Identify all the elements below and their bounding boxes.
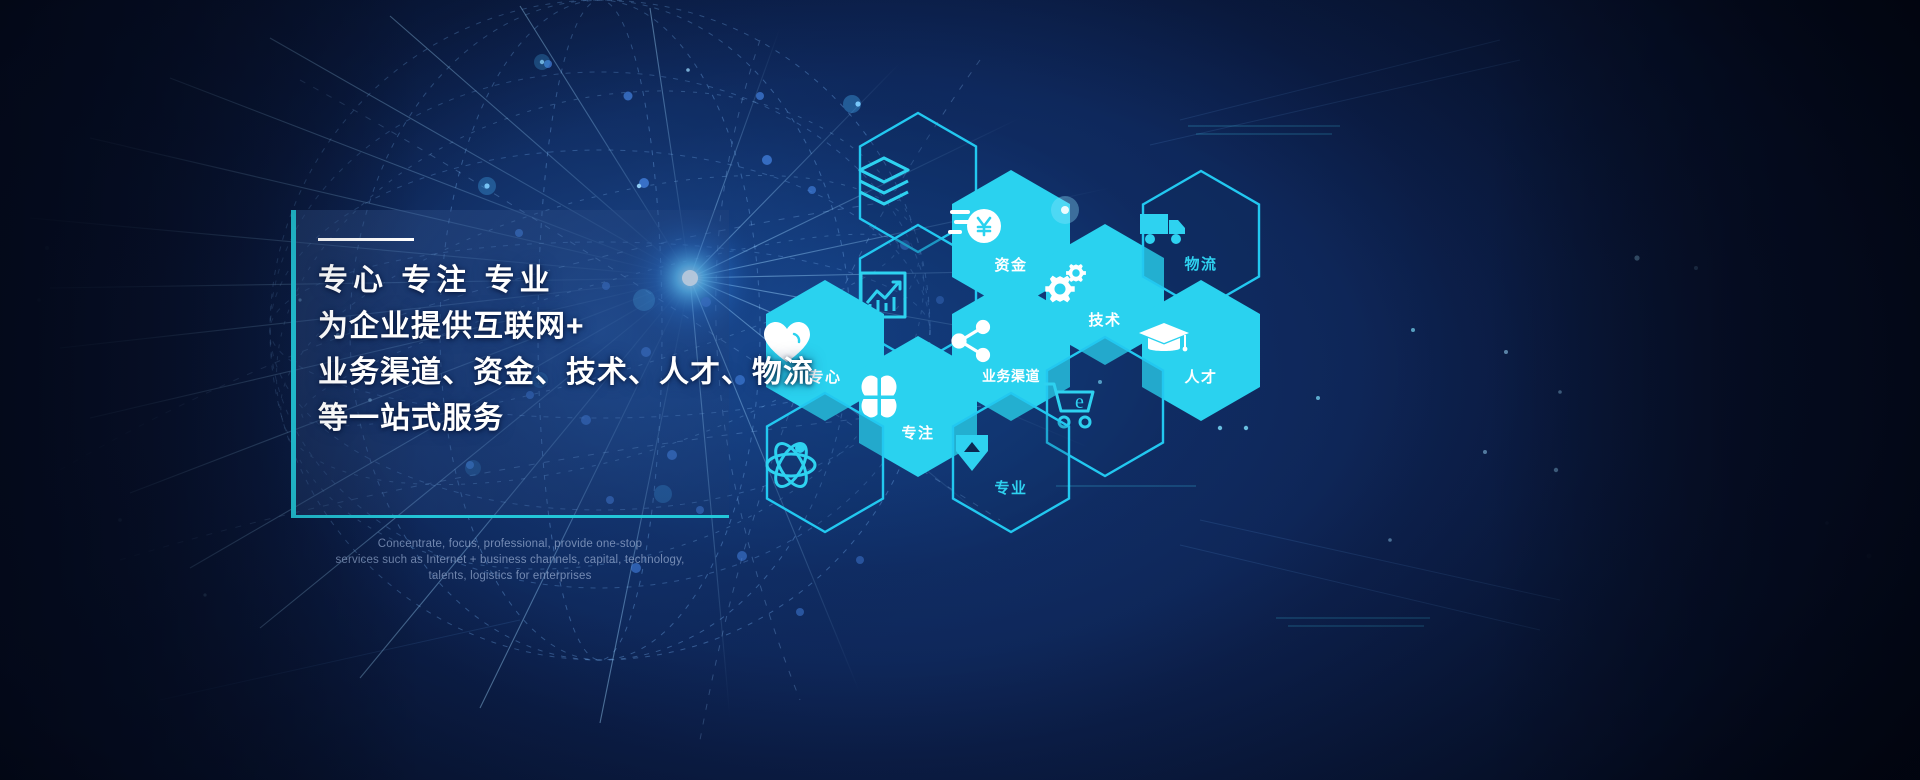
- english-subtitle: Concentrate, focus, professional, provid…: [330, 536, 690, 584]
- hexagon-zhuanye[interactable]: 专业: [948, 390, 1074, 535]
- panel-rule: [318, 238, 414, 241]
- svg-text:e: e: [1075, 391, 1084, 413]
- english-line-3: talents, logistics for enterprises: [330, 568, 690, 584]
- english-line-2: services such as Internet + business cha…: [330, 552, 690, 568]
- headline-line-1: 专心 专注 专业: [318, 258, 738, 304]
- english-line-1: Concentrate, focus, professional, provid…: [330, 536, 690, 552]
- headline-line-4: 等一站式服务: [318, 396, 738, 442]
- hexagon-label: 物流: [1138, 253, 1264, 274]
- hexagon-cluster: 资金 技术: [0, 0, 1920, 780]
- headline-line-2: 为企业提供互联网+: [318, 304, 738, 350]
- banner-stage: 资金 技术: [0, 0, 1920, 780]
- headline-line-3: 业务渠道、资金、技术、人才、物流: [318, 350, 738, 396]
- hexagon-atom[interactable]: [762, 390, 888, 535]
- hexagon-label: 专业: [948, 477, 1074, 498]
- headline-text: 专心 专注 专业 为企业提供互联网+ 业务渠道、资金、技术、人才、物流 等一站式…: [318, 258, 738, 442]
- headline-panel: 专心 专注 专业 为企业提供互联网+ 业务渠道、资金、技术、人才、物流 等一站式…: [291, 210, 729, 518]
